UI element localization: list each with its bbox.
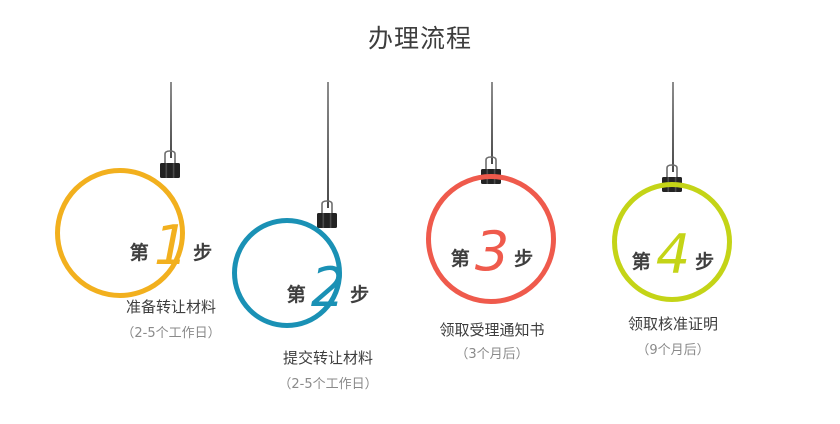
infographic-canvas: 办理流程 第1步 准备转让材料 （2-5个工作日）	[0, 0, 840, 424]
step-digit-4: 4	[651, 223, 695, 286]
step-caption-4: 领取核准证明	[543, 313, 803, 335]
step-item-4: 第4步 领取核准证明 （9个月后）	[543, 0, 803, 424]
step-subcaption-4: （9个月后）	[543, 341, 803, 361]
hanging-thread-1	[170, 82, 172, 158]
step-digit-2: 2	[306, 256, 350, 319]
binder-clip-glyph	[153, 150, 187, 180]
step-suffix-4: 步	[695, 251, 714, 273]
step-number-row-4: 第4步	[543, 223, 803, 277]
step-suffix-3: 步	[514, 248, 533, 270]
step-digit-1: 1	[149, 214, 193, 277]
binder-clip-icon-1	[153, 150, 187, 180]
step-digit-3: 3	[470, 220, 514, 283]
hanging-thread-2	[327, 82, 329, 208]
step-prefix-1: 第	[130, 242, 149, 264]
step-prefix-4: 第	[632, 251, 651, 273]
hanging-thread-3	[491, 82, 493, 164]
hanging-thread-4	[672, 82, 674, 172]
step-prefix-2: 第	[287, 284, 306, 306]
step-prefix-3: 第	[451, 248, 470, 270]
